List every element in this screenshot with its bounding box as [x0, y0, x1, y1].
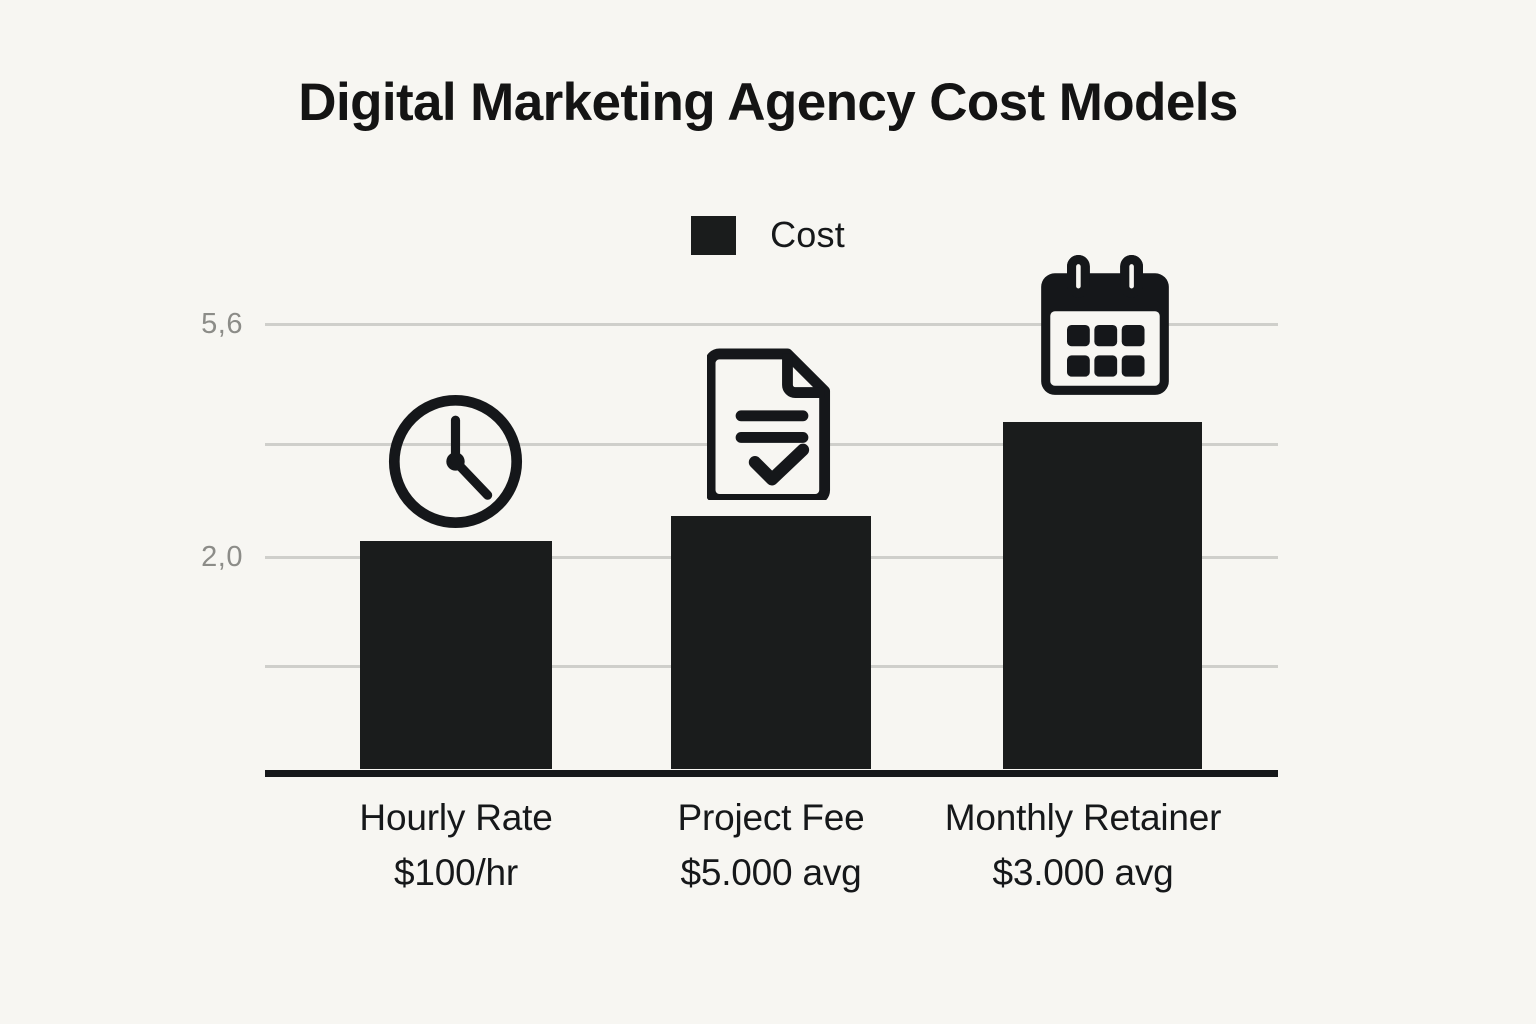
x-label-monthly-retainer: Monthly Retainer $3.000 avg — [943, 790, 1223, 900]
bar-monthly-retainer[interactable] — [1003, 422, 1202, 769]
page-title: Digital Marketing Agency Cost Models — [0, 72, 1536, 133]
x-axis-labels: Hourly Rate $100/hr Project Fee $5.000 a… — [265, 790, 1278, 990]
y-tick-label-0: 5,6 — [123, 308, 243, 341]
x-axis-line — [265, 770, 1278, 777]
x-label-hourly-rate: Hourly Rate $100/hr — [296, 790, 616, 900]
legend-label: Cost — [770, 214, 845, 256]
calendar-icon — [1029, 252, 1181, 404]
chart-canvas: Digital Marketing Agency Cost Models Cos… — [0, 0, 1536, 1024]
x-label-name: Hourly Rate — [296, 790, 616, 845]
bar-project-fee[interactable] — [671, 516, 871, 769]
legend-item-cost[interactable]: Cost — [691, 214, 845, 256]
x-label-project-fee: Project Fee $5.000 avg — [611, 790, 931, 900]
document-check-icon — [707, 344, 837, 500]
bar-hourly-rate[interactable] — [360, 541, 552, 769]
x-label-name: Monthly Retainer — [943, 790, 1223, 845]
clock-icon — [379, 385, 532, 538]
y-tick-label-2: 2,0 — [123, 541, 243, 574]
plot-area: 5,6 2,0 — [265, 300, 1278, 776]
x-label-name: Project Fee — [611, 790, 931, 845]
x-label-value: $3.000 avg — [943, 845, 1223, 900]
x-label-value: $100/hr — [296, 845, 616, 900]
legend-swatch-icon — [691, 216, 736, 255]
x-label-value: $5.000 avg — [611, 845, 931, 900]
chart-legend: Cost — [0, 214, 1536, 256]
